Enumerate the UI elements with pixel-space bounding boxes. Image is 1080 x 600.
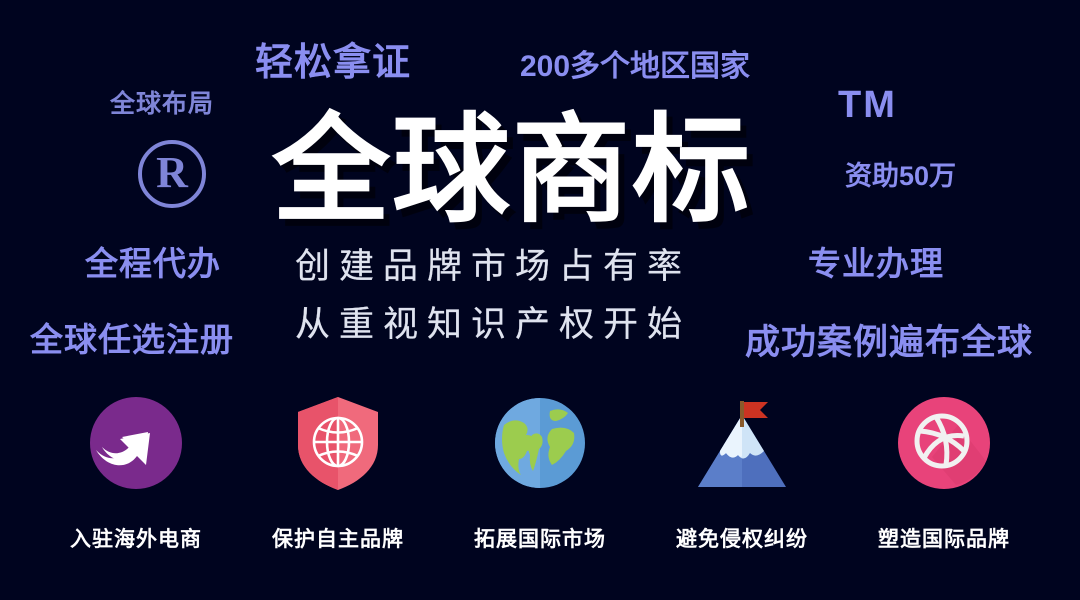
feature-label: 避免侵权纠纷	[676, 523, 808, 553]
curved-arrow-circle-icon	[88, 395, 184, 491]
feature-item-avoid-infringement: 避免侵权纠纷	[641, 395, 843, 553]
subtitle-line-1: 创建品牌市场占有率	[295, 250, 691, 285]
feature-item-protect-brand: 保护自主品牌	[237, 395, 439, 553]
ball-circle-icon	[896, 395, 992, 491]
feature-item-build-brand: 塑造国际品牌	[843, 395, 1045, 553]
keyword-professional-service: 专业办理	[808, 247, 944, 280]
registered-mark-letter: R	[156, 147, 188, 198]
feature-label: 塑造国际品牌	[878, 523, 1010, 553]
earth-globe-icon	[492, 395, 588, 491]
feature-label: 拓展国际市场	[474, 523, 606, 553]
keyword-countries-count: 200多个地区国家	[520, 52, 750, 82]
registered-mark-icon: R	[138, 140, 206, 208]
shield-globe-icon	[290, 395, 386, 491]
keyword-subsidy: 资助50万	[845, 163, 956, 190]
feature-item-overseas-ecommerce: 入驻海外电商	[35, 395, 237, 553]
promo-banner: 全球布局 轻松拿证 200多个地区国家 TM 资助50万 全程代办 全球任选注册…	[0, 0, 1080, 600]
feature-label: 保护自主品牌	[272, 523, 404, 553]
keyword-full-agency: 全程代办	[85, 247, 221, 280]
keyword-any-country-registration: 全球任选注册	[30, 323, 234, 356]
feature-label: 入驻海外电商	[70, 523, 202, 553]
keyword-cases-worldwide: 成功案例遍布全球	[745, 325, 1033, 360]
keyword-global-layout: 全球布局	[110, 92, 214, 117]
mountain-flag-icon	[694, 395, 790, 491]
page-title: 全球商标	[272, 112, 752, 230]
feature-item-expand-market: 拓展国际市场	[439, 395, 641, 553]
keyword-easy-certificate: 轻松拿证	[255, 44, 411, 82]
trademark-badge: TM	[838, 86, 897, 124]
feature-list: 入驻海外电商 保护自主品牌	[0, 395, 1080, 575]
subtitle-line-2: 从重视知识产权开始	[295, 308, 691, 343]
